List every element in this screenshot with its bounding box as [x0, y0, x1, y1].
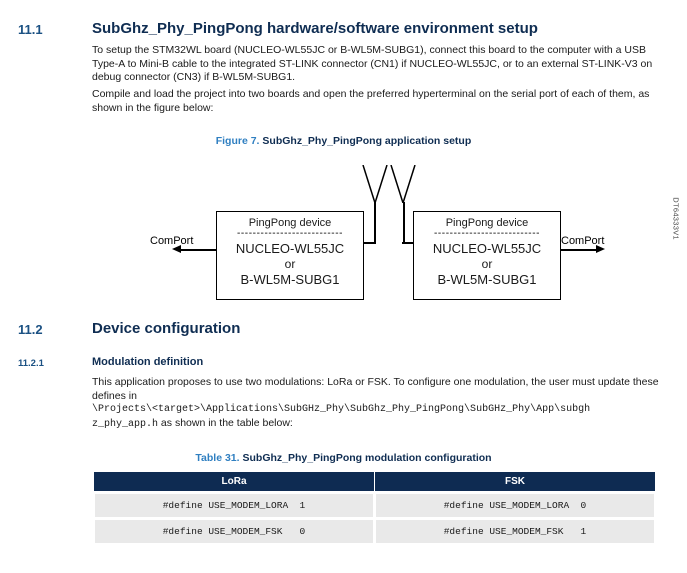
- comport-right-arrow-icon: [596, 245, 605, 253]
- document-page: 11.1 SubGhz_Phy_PingPong hardware/softwa…: [0, 0, 687, 573]
- section-title-11-2-1: Modulation definition: [92, 356, 203, 368]
- table-row: #define USE_MODEM_LORA 1 #define USE_MOD…: [94, 493, 656, 519]
- antenna-left-stem: [374, 202, 376, 243]
- antenna-right-icon: [390, 165, 416, 203]
- device-right-line3: or: [414, 257, 560, 271]
- antenna-left-icon: [362, 165, 388, 203]
- figure-doc-id: DT64333V1: [672, 197, 681, 240]
- comport-left-arrow-icon: [172, 245, 181, 253]
- modulation-config-table: LoRa FSK #define USE_MODEM_LORA 1 #defin…: [92, 471, 657, 546]
- device-box-right: PingPong device ------------------------…: [413, 211, 561, 300]
- table-caption-text: SubGhz_Phy_PingPong modulation configura…: [243, 452, 492, 464]
- figure-pingpong-setup: PingPong device ------------------------…: [0, 155, 687, 300]
- section-title-11-1: SubGhz_Phy_PingPong hardware/software en…: [92, 20, 652, 37]
- device-right-line4: B-WL5M-SUBG1: [414, 272, 560, 287]
- table-row: #define USE_MODEM_FSK 0 #define USE_MODE…: [94, 519, 656, 545]
- device-left-line2: NUCLEO-WL55JC: [217, 241, 363, 256]
- cell-fsk-modem-fsk: #define USE_MODEM_FSK 1: [375, 519, 656, 545]
- device-left-line3: or: [217, 257, 363, 271]
- table-caption-label: Table 31.: [195, 452, 239, 464]
- section-number-11-2-1: 11.2.1: [18, 358, 44, 369]
- device-right-line2: NUCLEO-WL55JC: [414, 241, 560, 256]
- cell-fsk-modem-lora: #define USE_MODEM_LORA 0: [375, 493, 656, 519]
- comport-left-line: [180, 249, 216, 251]
- section-number-11-1: 11.1: [18, 22, 43, 37]
- cell-lora-modem-fsk: #define USE_MODEM_FSK 0: [94, 519, 375, 545]
- page-top-clipped-text: [92, 0, 292, 8]
- cell-lora-modem-lora: #define USE_MODEM_LORA 1: [94, 493, 375, 519]
- device-left-line4: B-WL5M-SUBG1: [217, 272, 363, 287]
- table-header-row: LoRa FSK: [94, 472, 656, 493]
- path-line-2-tail: as shown in the table below:: [158, 417, 293, 429]
- paragraph-modulation-intro: This application proposes to use two mod…: [92, 376, 659, 403]
- antenna-right-stem: [403, 202, 405, 243]
- path-line-2: z_phy_app.h: [92, 419, 158, 430]
- path-line-1: \Projects\<target>\Applications\SubGHz_P…: [92, 403, 664, 417]
- paragraph-setup-instructions: To setup the STM32WL board (NUCLEO-WL55J…: [92, 44, 659, 85]
- figure-caption-label: Figure 7.: [216, 135, 260, 147]
- figure-caption: Figure 7. SubGhz_Phy_PingPong applicatio…: [0, 135, 687, 147]
- table-header-lora: LoRa: [94, 472, 375, 493]
- paragraph-compile-load: Compile and load the project into two bo…: [92, 88, 659, 115]
- comport-right-line: [561, 249, 597, 251]
- figure-caption-text: SubGhz_Phy_PingPong application setup: [262, 135, 471, 147]
- device-left-divider: ---------------------------: [217, 230, 363, 238]
- section-title-11-2: Device configuration: [92, 320, 240, 337]
- section-number-11-2: 11.2: [18, 322, 43, 337]
- path-line-2-wrapper: z_phy_app.h as shown in the table below:: [92, 417, 664, 432]
- device-right-divider: ---------------------------: [414, 230, 560, 238]
- table-caption: Table 31. SubGhz_Phy_PingPong modulation…: [0, 452, 687, 464]
- table-header-fsk: FSK: [375, 472, 656, 493]
- antenna-left-lead: [364, 242, 376, 244]
- device-box-left: PingPong device ------------------------…: [216, 211, 364, 300]
